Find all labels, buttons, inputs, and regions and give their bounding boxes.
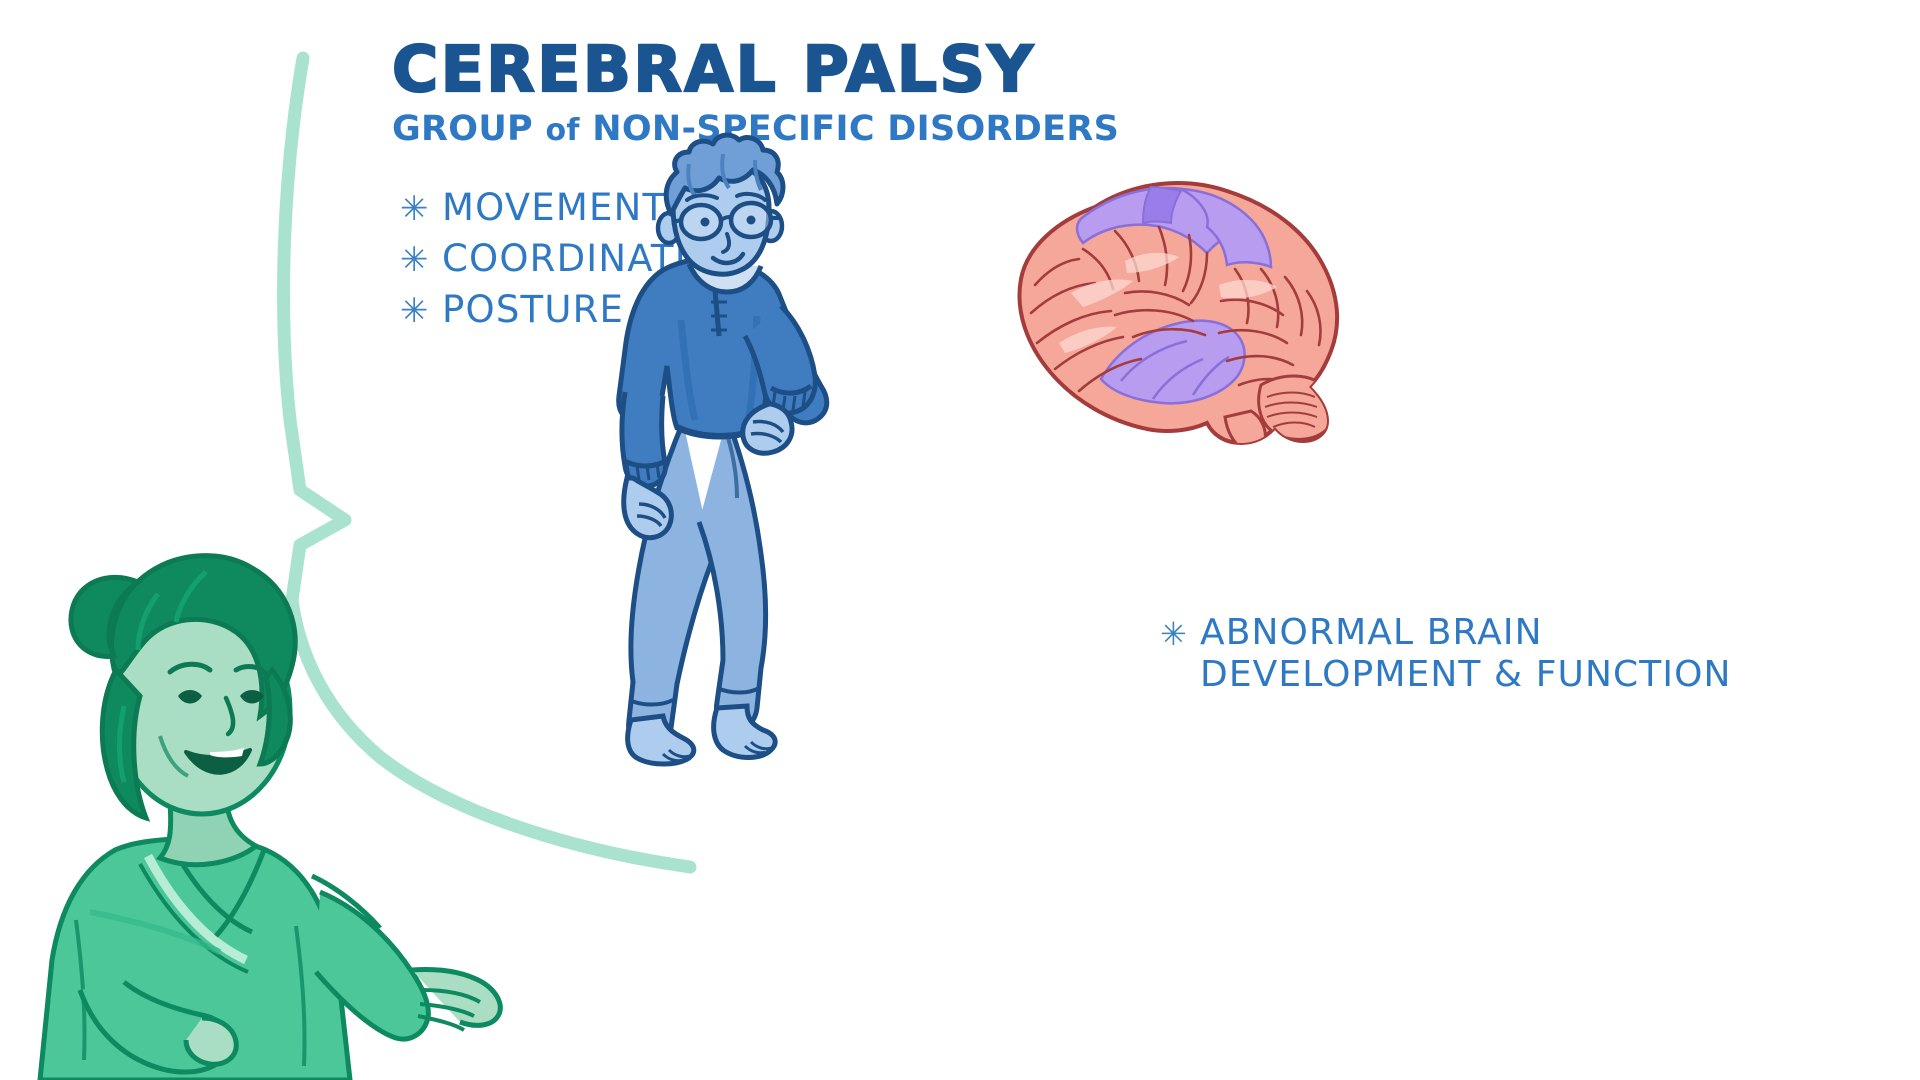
boy-head	[658, 135, 783, 274]
brain-caption-line2: DEVELOPMENT & FUNCTION	[1200, 654, 1732, 695]
brain-illustration	[975, 165, 1375, 465]
clinician-figure	[20, 520, 540, 1080]
nurse-head	[71, 556, 295, 818]
brain-caption: ✳ ABNORMAL BRAIN DEVELOPMENT & FUNCTION	[1160, 612, 1800, 697]
subtitle-part2: NON-SPECIFIC DISORDERS	[580, 109, 1119, 149]
asterisk-bullet-icon: ✳	[1160, 612, 1200, 650]
brain-caption-text: ABNORMAL BRAIN DEVELOPMENT & FUNCTION	[1200, 612, 1732, 697]
walking-boy-figure	[585, 160, 885, 780]
asterisk-bullet-icon: ✳	[400, 294, 442, 328]
asterisk-bullet-icon: ✳	[400, 192, 442, 226]
boy-leg-front	[699, 418, 775, 758]
page-subtitle: GROUP of NON-SPECIFIC DISORDERS	[392, 112, 1152, 147]
page-title: CEREBRAL PALSY	[392, 38, 1152, 101]
boy-arm-left	[622, 392, 671, 538]
subtitle-of: of	[546, 113, 580, 148]
brain-caption-line1: ABNORMAL BRAIN	[1200, 612, 1543, 653]
illustration-canvas: CEREBRAL PALSY GROUP of NON-SPECIFIC DIS…	[0, 0, 1920, 1080]
asterisk-bullet-icon: ✳	[400, 243, 442, 277]
subtitle-part1: GROUP	[392, 109, 546, 149]
